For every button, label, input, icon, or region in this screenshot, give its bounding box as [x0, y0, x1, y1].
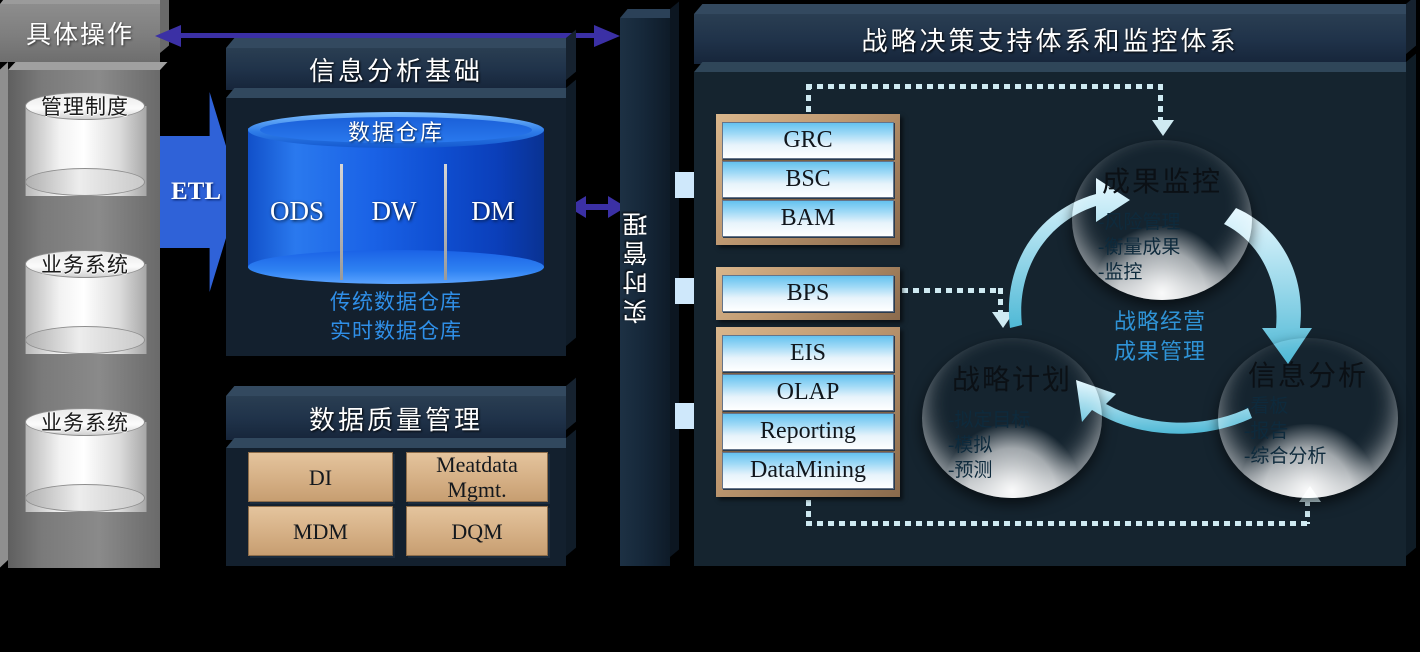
arrow-shaft: [582, 204, 612, 210]
dotted-line-bps: [902, 288, 1002, 293]
database-cylinder-3[interactable]: 业务系统: [25, 408, 145, 526]
cylinder-label: 管理制度: [25, 91, 145, 121]
dotted-line-governance-left: [806, 84, 811, 118]
button-datamining[interactable]: DataMining: [722, 452, 894, 489]
operations-panel-header: 具体操作: [0, 4, 160, 62]
quality-tile-di[interactable]: DI: [248, 452, 393, 502]
button-olap[interactable]: OLAP: [722, 374, 894, 411]
strategy-panel-title: 战略决策支持体系和监控体系: [861, 21, 1238, 58]
database-cylinder-2[interactable]: 业务系统: [25, 250, 145, 368]
bevel-right: [1406, 54, 1416, 556]
arrow-head-right-icon: [594, 25, 620, 47]
button-bam[interactable]: BAM: [722, 200, 894, 237]
realtime-management-label: 实时管理: [620, 208, 670, 324]
bevel-top: [694, 4, 1414, 14]
quality-tile-metadata-mgmt[interactable]: Meatdata Mgmt.: [406, 452, 548, 502]
bevel-right: [566, 430, 576, 556]
sphere-analysis[interactable]: 信息分析 -看板 -报告 -综合分析: [1218, 338, 1398, 498]
warehouse-subtitles: 传统数据仓库 实时数据仓库: [248, 288, 544, 346]
bevel-top: [620, 9, 678, 18]
strategy-panel-header: 战略决策支持体系和监控体系: [694, 14, 1406, 64]
database-cylinder-1[interactable]: 管理制度: [25, 92, 145, 210]
dotted-line-analysis-up: [1305, 500, 1310, 524]
etl-label: ETL: [160, 92, 232, 292]
bevel-right: [1406, 0, 1416, 54]
bevel-right: [566, 80, 576, 346]
sphere-monitor[interactable]: 成果监控 -风险管理 -衡量成果 -监控: [1072, 140, 1252, 300]
bevel-right: [566, 378, 576, 430]
sphere-analysis-items: -看板 -报告 -综合分析: [1218, 394, 1398, 469]
dotted-arrowhead-down-monitor: [1152, 120, 1174, 136]
sphere-monitor-title: 成果监控: [1072, 160, 1252, 200]
bevel-top: [226, 38, 574, 48]
bevel-top: [226, 386, 574, 396]
dotted-line-bottom: [806, 521, 1310, 526]
button-reporting[interactable]: Reporting: [722, 413, 894, 450]
warehouse-bottom: [248, 250, 544, 284]
dotted-line-governance-top: [806, 84, 1162, 89]
info-analysis-header: 信息分析基础: [226, 48, 566, 90]
sphere-plan-title: 战略计划: [922, 358, 1102, 398]
group-governance: GRC BSC BAM: [716, 114, 900, 245]
cylinder-label: 业务系统: [25, 249, 145, 279]
info-analysis-title: 信息分析基础: [309, 51, 483, 88]
warehouse-segment-dw: DW: [344, 196, 444, 227]
realtime-management-bar: 实时管理: [620, 18, 670, 566]
warehouse-segment-dm: DM: [448, 196, 538, 227]
data-warehouse-cylinder[interactable]: 数据仓库 ODS DW DM: [248, 112, 544, 284]
button-grc[interactable]: GRC: [722, 122, 894, 159]
bevel-top: [226, 88, 574, 98]
warehouse-divider-2: [444, 164, 447, 280]
cylinder-bottom: [25, 326, 145, 354]
group-planning: BPS: [716, 267, 900, 320]
cycle-center-label-line1: 战略经营: [1080, 307, 1240, 337]
cycle-center-label-line2: 成果管理: [1080, 337, 1240, 367]
quality-tile-mdm[interactable]: MDM: [248, 506, 393, 556]
warehouse-title: 数据仓库: [248, 115, 544, 147]
group-analytics: EIS OLAP Reporting DataMining: [716, 327, 900, 497]
data-quality-title: 数据质量管理: [309, 400, 483, 437]
button-eis[interactable]: EIS: [722, 335, 894, 372]
group-governance-inner: GRC BSC BAM: [722, 122, 894, 237]
warehouse-divider-1: [340, 164, 343, 280]
cylinder-bottom: [25, 484, 145, 512]
sphere-plan[interactable]: 战略计划 -拟定目标 -模拟 -预测: [922, 338, 1102, 498]
operations-panel: 具体操作 管理制度 业务系统 业务系统: [0, 0, 170, 575]
button-bps[interactable]: BPS: [722, 275, 894, 312]
operations-panel-title: 具体操作: [26, 15, 134, 51]
bevel-top: [694, 62, 1414, 72]
quality-tile-dqm[interactable]: DQM: [406, 506, 548, 556]
bevel-top: [226, 438, 574, 448]
group-planning-inner: BPS: [722, 275, 894, 312]
cycle-center-label: 战略经营 成果管理: [1080, 307, 1240, 367]
warehouse-subtitle-1: 传统数据仓库: [248, 288, 544, 317]
button-bsc[interactable]: BSC: [722, 161, 894, 198]
warehouse-segment-ods: ODS: [254, 196, 340, 227]
warehouse-subtitle-2: 实时数据仓库: [248, 317, 544, 346]
warehouse-bidirectional-arrow: [568, 196, 626, 218]
sphere-plan-items: -拟定目标 -模拟 -预测: [922, 408, 1102, 483]
operations-panel-body: 管理制度 业务系统 业务系统: [8, 70, 160, 568]
group-analytics-inner: EIS OLAP Reporting DataMining: [722, 335, 894, 489]
cylinder-bottom: [25, 168, 145, 196]
sphere-monitor-items: -风险管理 -衡量成果 -监控: [1072, 210, 1252, 285]
sphere-analysis-title: 信息分析: [1218, 354, 1398, 394]
data-quality-header: 数据质量管理: [226, 396, 566, 440]
bevel-right: [566, 30, 576, 80]
cylinder-label: 业务系统: [25, 407, 145, 437]
